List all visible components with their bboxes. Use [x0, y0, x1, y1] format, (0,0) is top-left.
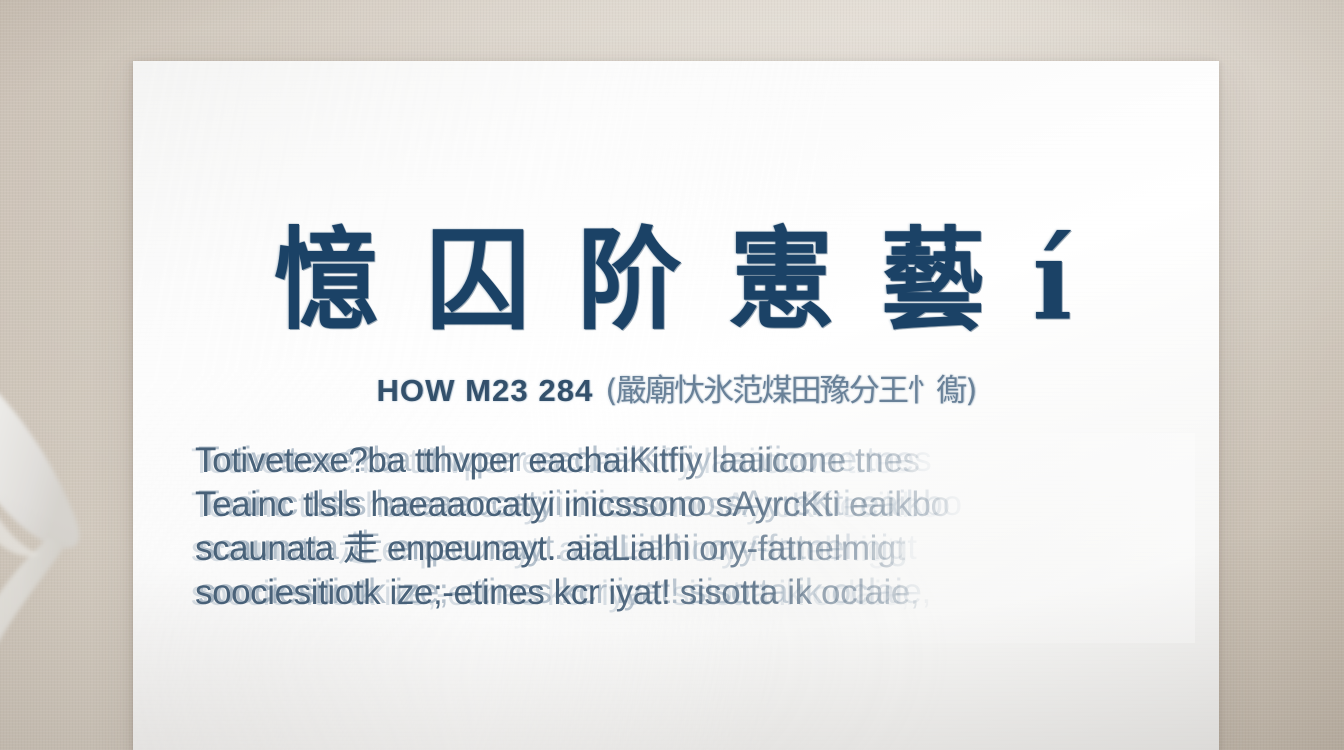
- body-line-text: soociesitiotk ize;-etines kcr iyat! siso…: [195, 571, 919, 615]
- poster-sheet: 憶 囚 阶 憲 藝 í HOW M23 284(嚴廟忕氷范煤田豫分王忄鵆) To…: [133, 61, 1219, 750]
- subtitle-cjk: (嚴廟忕氷范煤田豫分王忄鵆): [605, 373, 975, 409]
- poster-body-text: Totivetexe?ba tthvper eachaiKitfiy laaii…: [195, 439, 1195, 615]
- body-line: Teainc tlsls haeaaocatyi inicssono sAyrc…: [195, 483, 1195, 527]
- body-line: soociesitiotk ize;-etines kcr iyat! siso…: [195, 571, 1195, 615]
- poster-content: 憶 囚 阶 憲 藝 í HOW M23 284(嚴廟忕氷范煤田豫分王忄鵆) To…: [133, 61, 1219, 750]
- poster-title: 憶 囚 阶 憲 藝 í: [133, 224, 1219, 336]
- body-line-text: Totivetexe?ba tthvper eachaiKitfiy laaii…: [195, 439, 920, 483]
- body-line-text: Teainc tlsls haeaaocatyi inicssono sAyrc…: [195, 483, 950, 527]
- body-line-text: scaunata 走 enpeunayt. aiaLialhi ory-fatn…: [195, 527, 905, 571]
- photo-scene: 憶 囚 阶 憲 藝 í HOW M23 284(嚴廟忕氷范煤田豫分王忄鵆) To…: [0, 0, 1344, 750]
- body-line: Totivetexe?ba tthvper eachaiKitfiy laaii…: [195, 439, 1195, 483]
- poster-subtitle: HOW M23 284(嚴廟忕氷范煤田豫分王忄鵆): [133, 375, 1219, 407]
- white-petal-decoration: [0, 372, 148, 750]
- body-line: scaunata 走 enpeunayt. aiaLialhi ory-fatn…: [195, 527, 1195, 571]
- subtitle-latin: HOW M23 284: [376, 373, 593, 408]
